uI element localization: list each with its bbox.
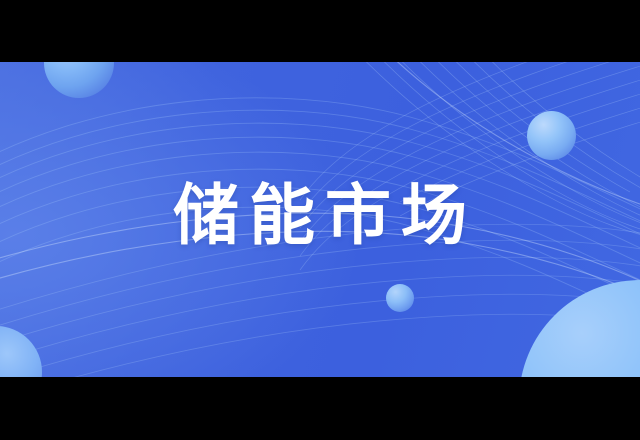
letterbox-bottom — [0, 377, 640, 440]
page-title: 储能市场 — [163, 183, 477, 249]
letterbox-top — [0, 0, 640, 62]
headline-container: 储能市场 — [0, 62, 640, 377]
video-frame: 储能市场 — [0, 0, 640, 440]
